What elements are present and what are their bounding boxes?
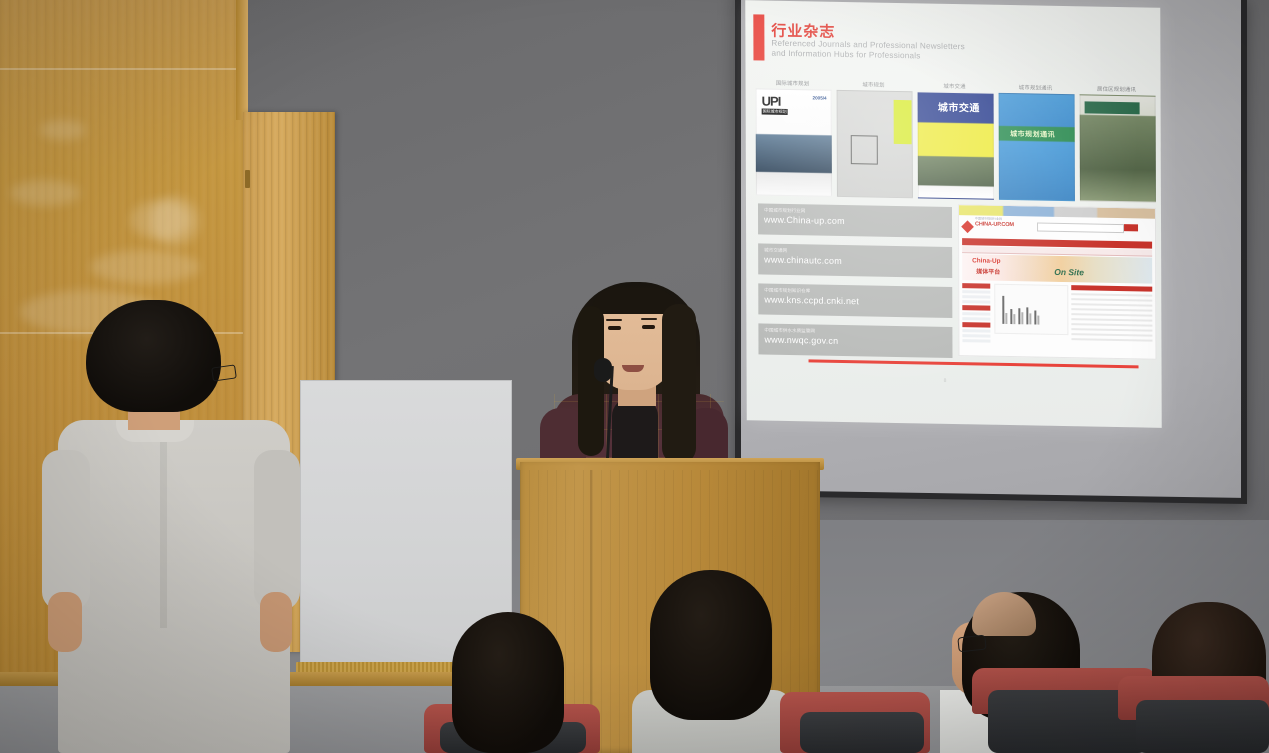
sidebar-link[interactable] <box>962 317 990 321</box>
bar-group <box>1034 292 1039 324</box>
bar <box>1037 316 1039 325</box>
bar-group <box>1026 292 1031 324</box>
cover-caption: 城市规划通讯 <box>999 83 1073 92</box>
bar-chart-bars <box>1002 292 1062 325</box>
bar <box>1026 307 1028 324</box>
site-article-column <box>1071 285 1152 356</box>
sidebar-link[interactable] <box>962 329 990 333</box>
slide-subtitle-line2: and Information Hubs for Professionals <box>771 49 920 61</box>
bar <box>1005 313 1007 324</box>
bar <box>1013 315 1015 325</box>
door-frame <box>236 0 248 120</box>
title-accent-bar <box>753 14 764 60</box>
standing-attendee-head <box>86 300 221 412</box>
standing-attendee <box>28 300 328 753</box>
eyeglasses-icon <box>957 635 986 653</box>
banner-feature-text: On Site <box>1054 267 1084 278</box>
bar <box>1018 308 1020 324</box>
presenter-eye-left <box>608 326 621 330</box>
cover-image-planning-newsletter: 城市规划通讯 <box>999 93 1075 201</box>
magazine-cover-item: 城市规划 <box>837 80 911 199</box>
article-line <box>1071 328 1152 331</box>
cover-year: 2005/4 <box>813 95 827 100</box>
sidebar-link[interactable] <box>962 339 990 343</box>
bar-group <box>1002 292 1007 324</box>
website-header: 中国城市规划行业网 CHINA-UP.COM <box>962 220 1152 239</box>
audience-front-left-head <box>452 612 564 753</box>
url-row[interactable]: 中国城市规划知识仓库 www.kns.ccpd.cnki.net <box>758 283 952 318</box>
presenter-fringe <box>592 288 676 314</box>
door-hinge-icon <box>245 170 250 188</box>
standing-attendee-arm-right <box>260 592 292 652</box>
standing-attendee-arm-left <box>48 592 82 652</box>
magazine-cover-item: 城市规划通讯 城市规划通讯 <box>999 83 1073 202</box>
site-search-button[interactable] <box>1124 224 1138 231</box>
seat-cushion <box>1136 700 1269 753</box>
site-sidebar[interactable] <box>962 283 990 354</box>
lecture-hall-photo: 行业杂志 Referenced Journals and Professiona… <box>0 0 1269 753</box>
shirt-pleat <box>160 428 167 628</box>
sidebar-link[interactable] <box>962 312 990 316</box>
article-line <box>1071 303 1152 306</box>
url-value: www.chinautc.com <box>764 254 946 270</box>
audience-front-center-head <box>650 570 772 720</box>
slide-page-number: 8 <box>944 378 947 384</box>
url-value: www.kns.ccpd.cnki.net <box>764 294 946 310</box>
website-screenshot: 中国城市规划行业网 CHINA-UP.COM China-Up 媒体平台 On … <box>958 204 1157 360</box>
standing-attendee-sleeve-right <box>254 450 300 610</box>
sidebar-heading <box>962 322 990 328</box>
article-line <box>1071 323 1152 326</box>
cover-caption: 居住区规划通讯 <box>1080 84 1154 93</box>
presenter-eyebrow-right <box>641 318 657 320</box>
magazine-cover-row: 国际城市规划 UPI 国际城市规划 2005/4 城市规划 城市交通 城市交通 <box>756 78 1154 203</box>
bar <box>1010 309 1012 324</box>
cover-caption: 城市交通 <box>918 81 992 90</box>
sidebar-link[interactable] <box>962 300 990 304</box>
site-logo-small-label: 中国城市规划行业网 <box>975 216 1002 220</box>
site-logo-text: CHINA-UP.COM <box>975 221 1014 228</box>
site-logo-icon <box>961 220 974 233</box>
article-line <box>1071 338 1152 341</box>
url-row[interactable]: 城市交通网 www.chinautc.com <box>758 243 952 278</box>
article-line <box>1071 298 1152 301</box>
presenter-eyebrow-left <box>606 319 622 321</box>
cover-image-upi: UPI 国际城市规划 2005/4 <box>756 88 832 196</box>
site-search-input[interactable] <box>1037 223 1124 234</box>
bar <box>1034 311 1036 325</box>
cover-band <box>1085 102 1140 115</box>
site-bar-chart <box>994 284 1068 335</box>
url-value: www.nwqc.gov.cn <box>764 334 946 350</box>
sidebar-link[interactable] <box>962 295 990 299</box>
seat-cushion <box>800 712 924 753</box>
article-headline-bar <box>1071 285 1152 291</box>
slide-subtitle: Referenced Journals and Professional New… <box>771 39 1101 65</box>
cover-subtitle: 国际城市规划 <box>762 108 788 114</box>
magazine-cover-item: 城市交通 城市交通 <box>918 81 992 200</box>
standing-attendee-sleeve-left <box>42 450 90 610</box>
banner-cn-text: 媒体平台 <box>976 266 1000 275</box>
article-line <box>1071 333 1152 336</box>
magazine-cover-item: 居住区规划通讯 <box>1080 84 1154 203</box>
cover-title: UPI <box>762 93 781 108</box>
cover-image-residential-newsletter <box>1080 94 1156 202</box>
bar <box>1002 296 1004 324</box>
url-list: 中国城市规划行业网 www.China-up.com 城市交通网 www.chi… <box>758 203 953 367</box>
url-row[interactable]: 中国城市规划行业网 www.China-up.com <box>758 203 952 238</box>
cover-image-urban-transport: 城市交通 <box>918 91 994 199</box>
eyeglasses-icon <box>211 364 237 381</box>
article-line <box>1071 293 1152 296</box>
sidebar-link[interactable] <box>962 290 990 294</box>
banner-brand-text: China-Up <box>972 257 1000 265</box>
cover-frame-shape <box>851 135 878 165</box>
article-line <box>1071 313 1152 316</box>
projected-slide: 行业杂志 Referenced Journals and Professiona… <box>745 0 1161 428</box>
article-line <box>1071 318 1152 321</box>
cover-title: 城市交通 <box>938 99 980 115</box>
sidebar-heading <box>962 305 990 311</box>
cover-image-city-planning <box>837 90 913 198</box>
cover-title: 城市规划通讯 <box>1010 129 1055 140</box>
sidebar-heading <box>962 283 990 289</box>
magazine-cover-item: 国际城市规划 UPI 国际城市规划 2005/4 <box>756 78 830 197</box>
url-row[interactable]: 中国城市供水水质监管网 www.nwqc.gov.cn <box>758 323 952 358</box>
sidebar-link[interactable] <box>962 334 990 338</box>
cover-caption: 国际城市规划 <box>756 78 830 87</box>
presenter-eye-right <box>642 325 655 329</box>
cover-accent-block <box>894 100 912 144</box>
cover-caption: 城市规划 <box>837 80 911 89</box>
url-value: www.China-up.com <box>764 214 946 230</box>
presenter-mouth <box>622 365 644 372</box>
site-banner: China-Up 媒体平台 On Site <box>962 254 1152 283</box>
bar-group <box>1010 292 1015 324</box>
article-line <box>1071 308 1152 311</box>
presenter-hair-strand-right <box>662 304 696 464</box>
bar <box>1029 314 1031 325</box>
bar-group <box>1018 292 1023 324</box>
bar <box>1021 313 1023 325</box>
